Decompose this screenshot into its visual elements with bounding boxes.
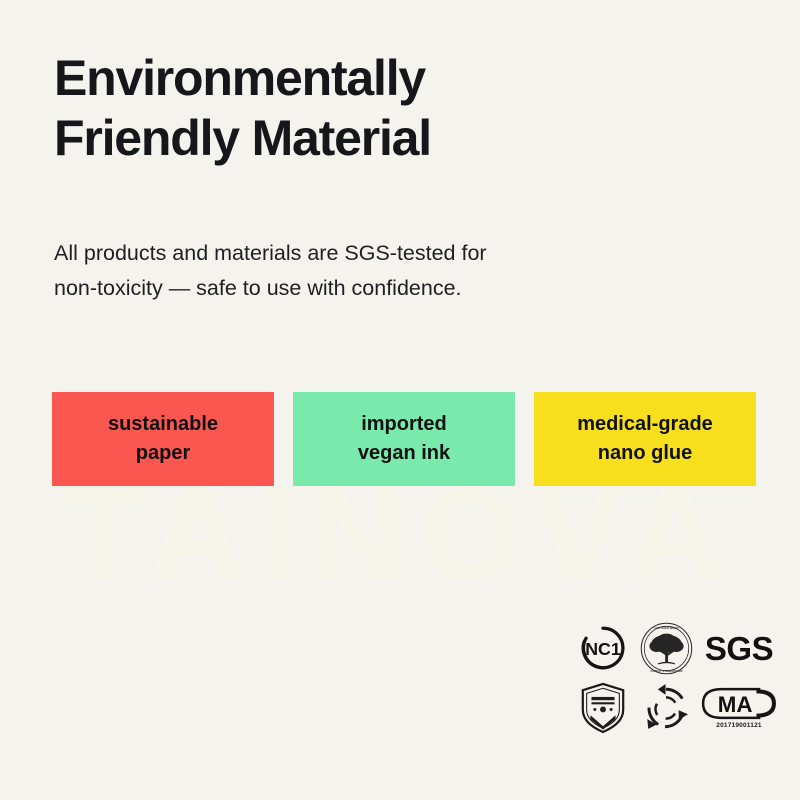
- sgs-label: SGS: [705, 632, 773, 665]
- certification-badge-row-bottom: MA 201719001121: [572, 678, 784, 738]
- description-text: All products and materials are SGS-teste…: [54, 236, 694, 306]
- page-title-line-2: Friendly Material: [54, 108, 754, 168]
- material-chip-medical-grade-nano-glue: medical-grade nano glue: [534, 392, 756, 486]
- fsc-tree-seal-badge: CERTIFIED WOOD FOREST STEWARDSHIP: [634, 619, 698, 677]
- shield-certification-badge: [572, 679, 634, 737]
- svg-text:NC1: NC1: [585, 639, 621, 659]
- svg-text:MA: MA: [718, 692, 753, 717]
- chip-label-line-2: paper: [136, 439, 190, 468]
- page-title: Environmentally Friendly Material: [54, 48, 754, 168]
- chip-label-line-1: medical-grade: [577, 410, 713, 439]
- material-chip-group: sustainable paper imported vegan ink med…: [52, 392, 756, 486]
- certification-badge-group: NC1: [572, 618, 784, 738]
- chip-label-line-1: imported: [361, 410, 447, 439]
- cma-certificate-number: 201719001121: [716, 722, 761, 729]
- recycling-symbol-badge: [634, 679, 698, 737]
- chip-label-line-1: sustainable: [108, 410, 218, 439]
- poster-canvas: TAINOVA Environmentally Friendly Materia…: [0, 0, 800, 800]
- svg-text:FOREST STEWARDSHIP: FOREST STEWARDSHIP: [650, 668, 682, 672]
- nc1-certification-badge: NC1: [572, 620, 634, 676]
- certification-badge-row-top: NC1: [572, 618, 784, 678]
- material-chip-sustainable-paper: sustainable paper: [52, 392, 274, 486]
- page-title-line-1: Environmentally: [54, 48, 754, 108]
- description-line-2: non-toxicity — safe to use with confiden…: [54, 271, 694, 306]
- material-chip-imported-vegan-ink: imported vegan ink: [293, 392, 515, 486]
- brand-watermark: TAINOVA: [0, 468, 800, 600]
- chip-label-line-2: vegan ink: [358, 439, 450, 468]
- sgs-certification-badge: SGS: [698, 620, 780, 676]
- description-line-1: All products and materials are SGS-teste…: [54, 236, 694, 271]
- svg-text:CERTIFIED WOOD: CERTIFIED WOOD: [654, 625, 678, 629]
- chip-label-line-2: nano glue: [598, 439, 692, 468]
- cma-certification-badge: MA 201719001121: [698, 679, 780, 737]
